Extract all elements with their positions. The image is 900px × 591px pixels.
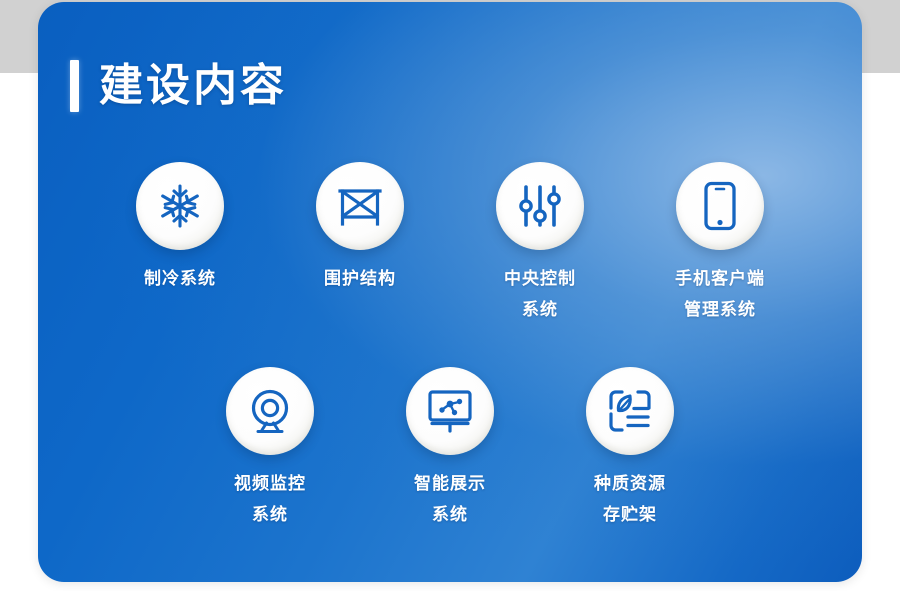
icon-bubble[interactable]: [406, 367, 494, 455]
item-label: 中央控制 系统: [504, 264, 576, 325]
page-title: 建设内容: [99, 64, 287, 108]
icon-bubble[interactable]: [676, 162, 764, 250]
item-mobile-client-management-system[interactable]: 手机客户端 管理系统: [630, 162, 810, 325]
icon-bubble[interactable]: [586, 367, 674, 455]
icon-bubble[interactable]: [226, 367, 314, 455]
snowflake-icon: [156, 182, 204, 230]
sliders-icon: [517, 182, 563, 230]
item-central-control-system[interactable]: 中央控制 系统: [450, 162, 630, 325]
items-row-bottom: 视频监控 系统: [38, 367, 862, 530]
smartphone-icon: [703, 181, 737, 231]
network-monitor-icon: [426, 387, 474, 435]
item-germplasm-storage-rack[interactable]: 种质资源 存贮架: [540, 367, 720, 530]
item-refrigeration-system[interactable]: 制冷系统: [90, 162, 270, 325]
webcam-icon: [247, 387, 293, 435]
content-card: 建设内容: [38, 2, 862, 582]
item-label: 视频监控 系统: [234, 469, 306, 530]
icon-bubble[interactable]: [316, 162, 404, 250]
icon-bubble[interactable]: [496, 162, 584, 250]
item-smart-display-system[interactable]: 智能展示 系统: [360, 367, 540, 530]
item-video-surveillance-system[interactable]: 视频监控 系统: [180, 367, 360, 530]
leaf-document-icon: [606, 387, 654, 435]
item-label: 智能展示 系统: [414, 469, 486, 530]
item-label: 围护结构: [324, 264, 396, 295]
title-accent-bar: [70, 60, 79, 112]
item-label: 手机客户端 管理系统: [675, 264, 765, 325]
items-row-top: 制冷系统 围护结构: [38, 162, 862, 325]
item-label: 制冷系统: [144, 264, 216, 295]
icon-bubble[interactable]: [136, 162, 224, 250]
item-envelope-structure[interactable]: 围护结构: [270, 162, 450, 325]
enclosure-frame-icon: [336, 183, 384, 229]
item-label: 种质资源 存贮架: [594, 469, 666, 530]
section-header: 建设内容: [70, 60, 287, 112]
